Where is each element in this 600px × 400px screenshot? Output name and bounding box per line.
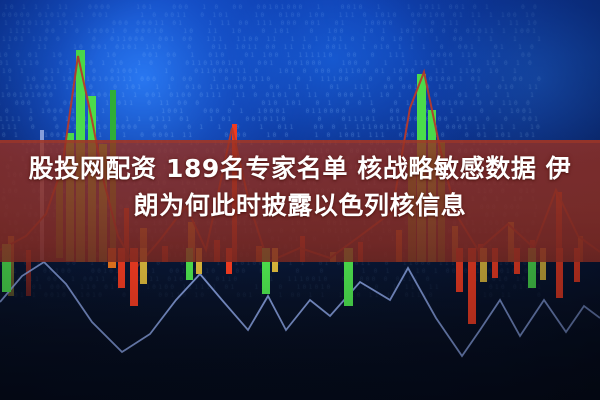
stock-news-banner: 10 1 1 1 11 0000 101 000 1 0 00 00101000… bbox=[0, 0, 600, 400]
headline-line-1: 股投网配资 189名专家名单 核战略敏感数据 伊 bbox=[14, 150, 586, 187]
headline-line-2: 朗为何此时披露以色列核信息 bbox=[14, 187, 586, 224]
headline-band-top-edge bbox=[0, 140, 600, 143]
page-title: 股投网配资 189名专家名单 核战略敏感数据 伊 朗为何此时披露以色列核信息 bbox=[0, 150, 600, 224]
